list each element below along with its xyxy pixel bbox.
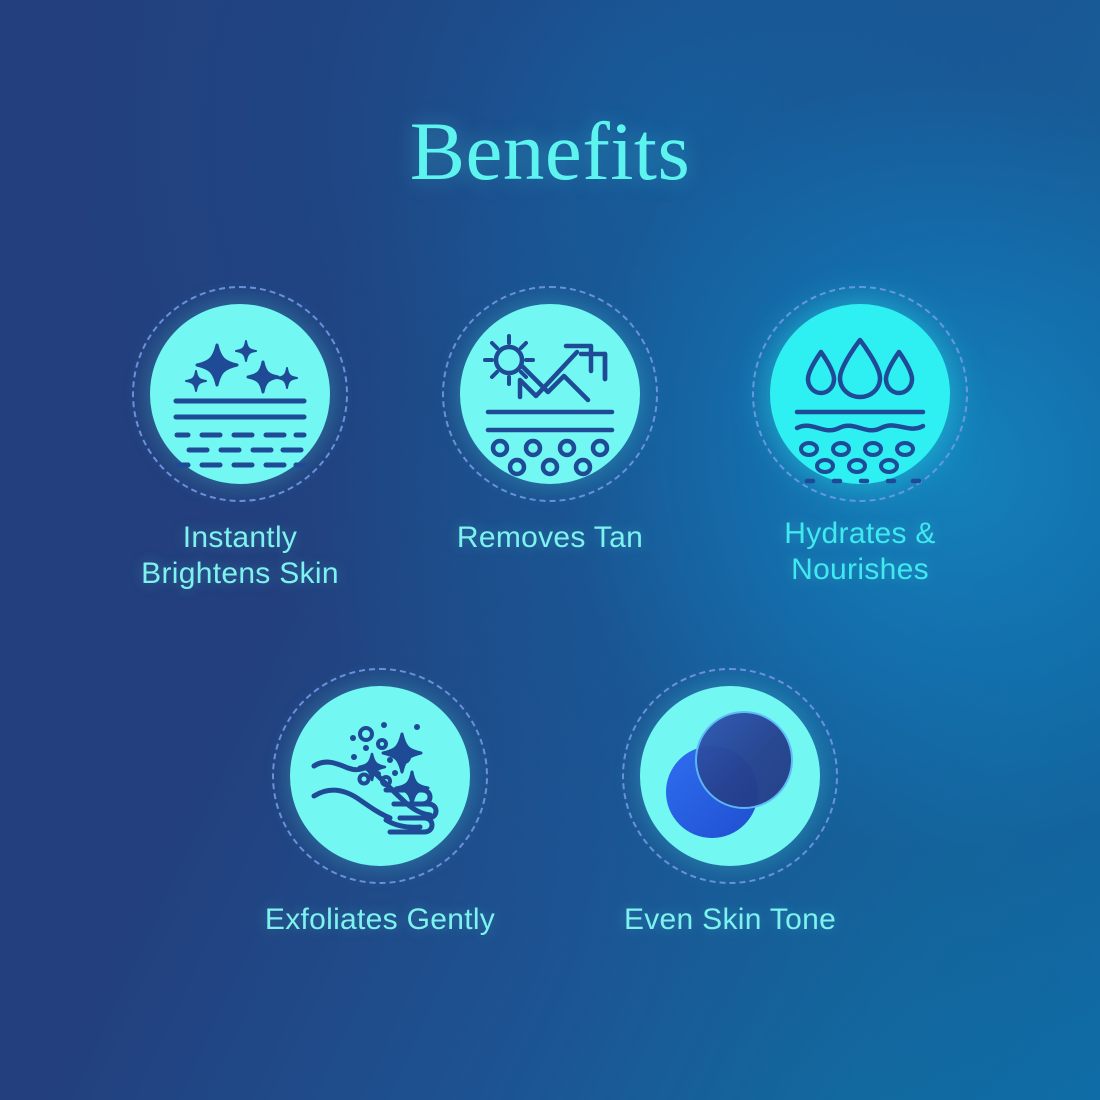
benefit-badge [132,286,348,502]
page-title: Benefits [0,104,1100,198]
benefit-badge [442,286,658,502]
icon-disc [460,304,640,484]
benefit-label: Instantly Brightens Skin [114,520,366,592]
benefits-poster: Benefits [0,0,1100,1100]
sparkle-skin-layers-icon [150,304,330,484]
icon-disc [150,304,330,484]
overlapping-circles-tone-icon [640,686,820,866]
benefit-label: Removes Tan [424,520,676,556]
icon-disc [770,304,950,484]
benefit-item-even-skin-tone[interactable]: Even Skin Tone [604,668,856,938]
benefit-item-instantly-brightens-skin[interactable]: Instantly Brightens Skin [114,286,366,592]
benefit-label: Hydrates & Nourishes [734,516,986,588]
benefit-label: Even Skin Tone [604,902,856,938]
benefit-label: Exfoliates Gently [254,902,506,938]
benefit-item-removes-tan[interactable]: Removes Tan [424,286,676,556]
icon-disc [640,686,820,866]
water-droplets-skin-icon [770,304,950,484]
benefit-badge [272,668,488,884]
hand-scrub-sparkles-icon [290,686,470,866]
benefit-badge [622,668,838,884]
icon-disc [290,686,470,866]
benefit-item-hydrates-nourishes[interactable]: Hydrates & Nourishes [734,286,986,588]
benefit-badge [752,286,968,502]
benefit-item-exfoliates-gently[interactable]: Exfoliates Gently [254,668,506,938]
sun-arrows-skin-icon [460,304,640,484]
